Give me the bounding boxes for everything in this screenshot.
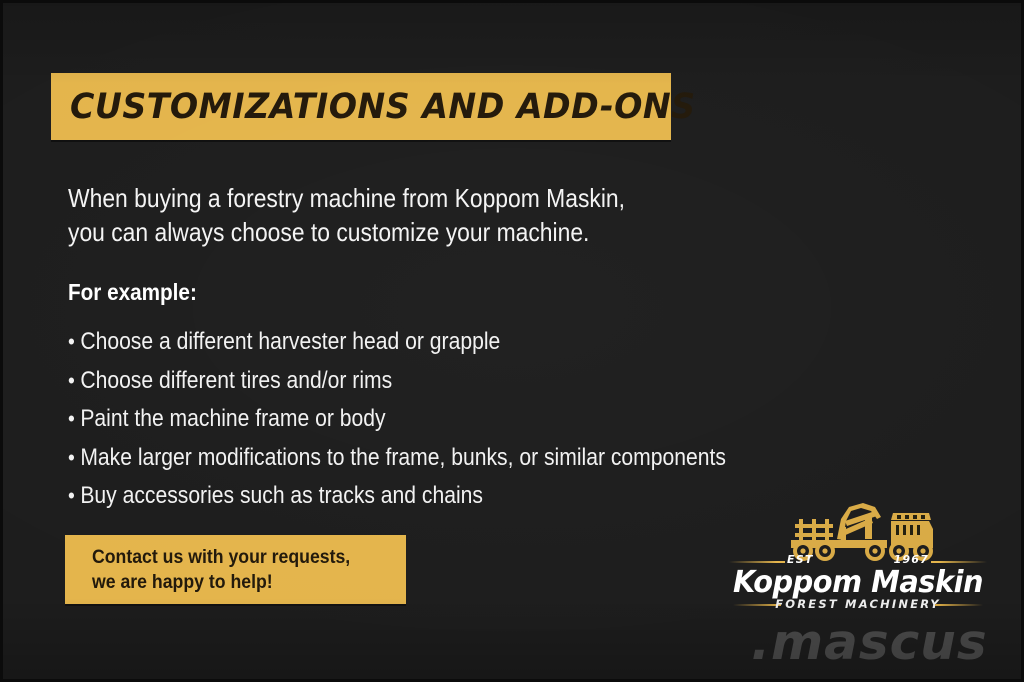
list-item: Make larger modifications to the frame, … xyxy=(68,439,772,478)
intro-paragraph: When buying a forestry machine from Kopp… xyxy=(68,181,737,249)
logo-tagline-row: FOREST MACHINERY xyxy=(727,597,989,613)
contact-cta-line-1: Contact us with your requests, xyxy=(92,545,384,570)
list-item: Buy accessories such as tracks and chain… xyxy=(68,477,772,516)
for-example-label: For example: xyxy=(68,279,197,306)
contact-cta-line-2: we are happy to help! xyxy=(92,570,384,595)
slide-canvas: CUSTOMIZATIONS AND ADD-ONS When buying a… xyxy=(0,0,1024,682)
logo-rule-left xyxy=(729,561,785,563)
logo-tagline-rule-right xyxy=(935,604,983,606)
intro-line-2: you can always choose to customize your … xyxy=(68,215,737,249)
logo-rule-right xyxy=(931,561,987,563)
list-item: Paint the machine frame or body xyxy=(68,400,772,439)
intro-line-1: When buying a forestry machine from Kopp… xyxy=(68,181,737,215)
list-item: Choose different tires and/or rims xyxy=(68,362,772,401)
koppom-maskin-logo: EST 1967 Koppom Maskin FOREST MACHINERY xyxy=(727,499,989,617)
list-item: Choose a different harvester head or gra… xyxy=(68,323,772,362)
forestry-forwarder-icon xyxy=(779,499,939,561)
page-title: CUSTOMIZATIONS AND ADD-ONS xyxy=(51,87,696,127)
customization-options-list: Choose a different harvester head or gra… xyxy=(68,323,772,516)
contact-cta-box[interactable]: Contact us with your requests, we are ha… xyxy=(65,535,406,604)
title-banner: CUSTOMIZATIONS AND ADD-ONS xyxy=(51,73,671,140)
mascus-watermark: .mascus xyxy=(751,614,988,671)
logo-wordmark: Koppom Maskin xyxy=(732,565,984,600)
